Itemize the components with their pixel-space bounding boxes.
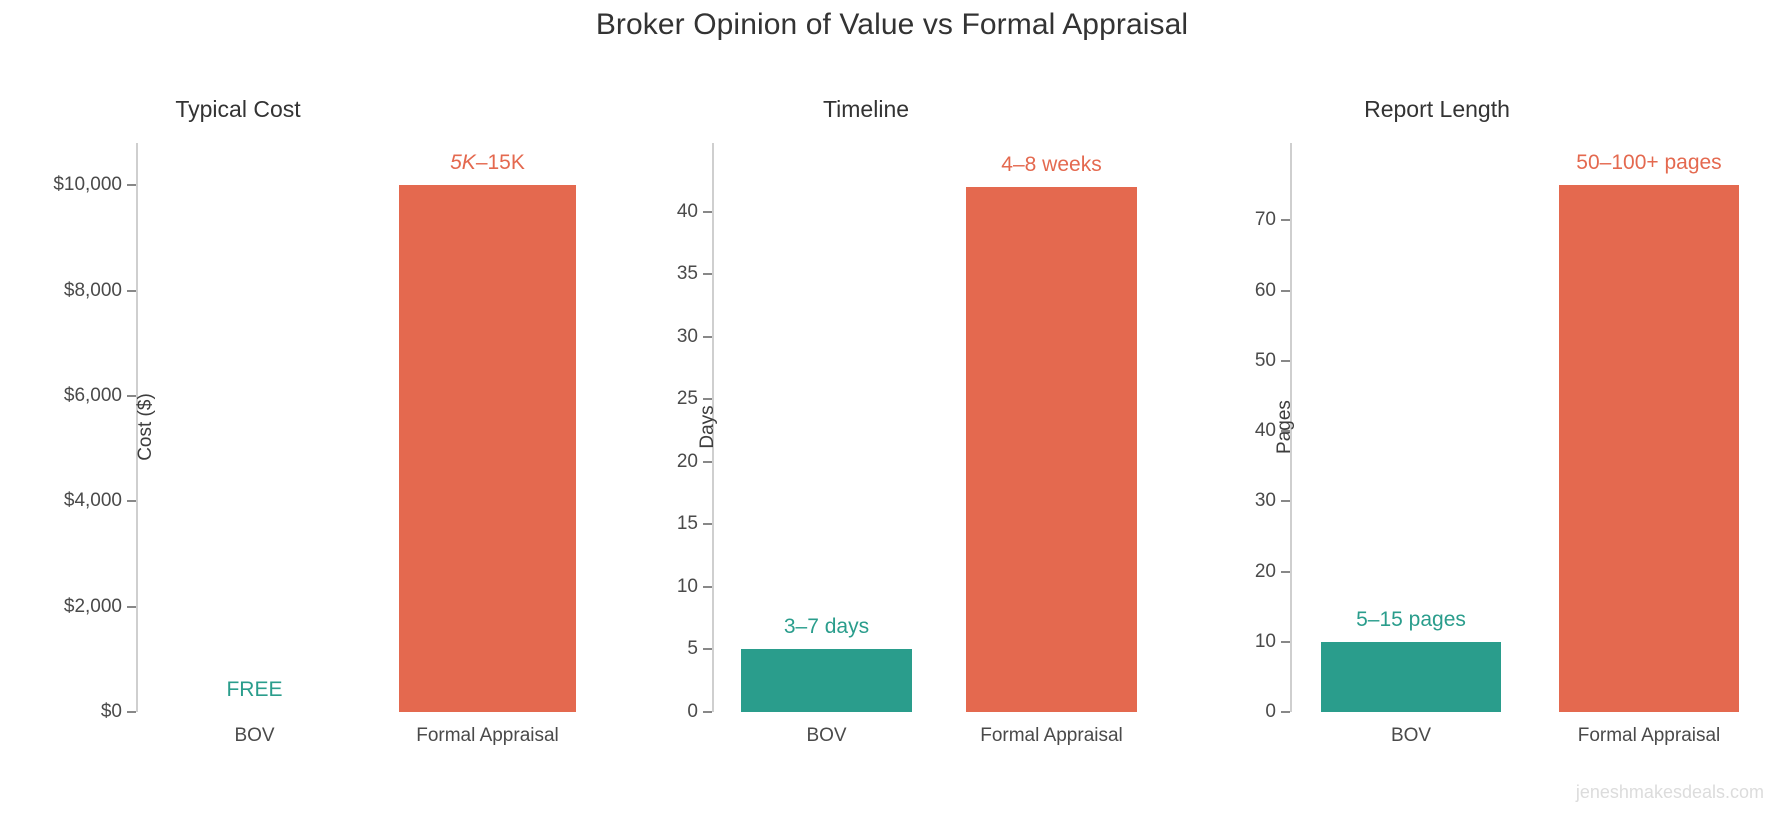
bar-slot: FREEBOV: [138, 143, 371, 712]
y-axis-tick-label: $10,000: [53, 174, 138, 196]
panel-title: Typical Cost: [0, 96, 620, 123]
y-axis-tick-label: 10: [677, 576, 714, 598]
bar-slot: 5–15 pagesBOV: [1292, 143, 1530, 712]
y-axis-tick-label: 15: [677, 513, 714, 535]
watermark: jeneshmakesdeals.com: [1576, 782, 1764, 803]
y-axis-tick-label: $4,000: [64, 490, 138, 512]
bar-value-label: 3–7 days: [714, 615, 939, 639]
y-axis-tick-label: 70: [1255, 209, 1292, 231]
x-axis-tick-label: Formal Appraisal: [1530, 725, 1768, 747]
bar-slot: 50–100+ pagesFormal Appraisal: [1530, 143, 1768, 712]
y-axis-tick-label: 5: [687, 638, 714, 660]
y-axis-tick-label: 40: [677, 201, 714, 223]
x-axis-tick-label: BOV: [714, 725, 939, 747]
y-axis-tick-label: 20: [677, 451, 714, 473]
bar-value-label: FREE: [138, 678, 371, 702]
y-axis-tick-label: 60: [1255, 280, 1292, 302]
panel-report-length: Report Length Pages 010203040506070 5–15…: [1180, 96, 1784, 776]
bar-value-label: 50–100+ pages: [1530, 151, 1768, 175]
y-axis-tick-label: $0: [101, 701, 138, 723]
x-axis-tick-label: BOV: [138, 725, 371, 747]
y-axis-tick-label: 20: [1255, 561, 1292, 583]
x-axis-tick-label: BOV: [1292, 725, 1530, 747]
y-axis-tick-label: $6,000: [64, 385, 138, 407]
bar-value-label: 4–8 weeks: [939, 153, 1164, 177]
bar-value-label: 5K–15K: [371, 151, 604, 175]
bar-bov[interactable]: [741, 649, 912, 712]
y-axis-tick-label: 30: [677, 326, 714, 348]
bar-group: 5–15 pagesBOV50–100+ pagesFormal Apprais…: [1292, 143, 1768, 712]
bar-slot: 4–8 weeksFormal Appraisal: [939, 143, 1164, 712]
plot-area: Days 0510152025303540 3–7 daysBOV4–8 wee…: [712, 143, 1164, 712]
x-axis-tick-label: Formal Appraisal: [371, 725, 604, 747]
bar-value-label: 5–15 pages: [1292, 608, 1530, 632]
y-axis-tick-label: 0: [1265, 701, 1292, 723]
y-axis-tick-label: 10: [1255, 631, 1292, 653]
y-axis-tick-label: 0: [687, 701, 714, 723]
bar-group: FREEBOV5K–15KFormal Appraisal: [138, 143, 604, 712]
y-axis-tick-label: 40: [1255, 420, 1292, 442]
chart-figure: Broker Opinion of Value vs Formal Apprai…: [0, 0, 1784, 813]
panel-title: Report Length: [1180, 96, 1784, 123]
figure-suptitle: Broker Opinion of Value vs Formal Apprai…: [0, 8, 1784, 42]
y-axis-tick-label: 50: [1255, 350, 1292, 372]
y-axis-tick-label: 35: [677, 263, 714, 285]
panel-title: Timeline: [620, 96, 1180, 123]
panel-typical-cost: Typical Cost Cost ($) $0$2,000$4,000$6,0…: [0, 96, 620, 776]
bar-formal-appraisal[interactable]: [966, 187, 1137, 712]
bar-formal-appraisal[interactable]: [1559, 185, 1740, 712]
bar-formal-appraisal[interactable]: [399, 185, 576, 712]
plot-area: Cost ($) $0$2,000$4,000$6,000$8,000$10,0…: [136, 143, 604, 712]
plot-area: Pages 010203040506070 5–15 pagesBOV50–10…: [1290, 143, 1768, 712]
x-axis-tick-label: Formal Appraisal: [939, 725, 1164, 747]
bar-slot: 3–7 daysBOV: [714, 143, 939, 712]
bar-group: 3–7 daysBOV4–8 weeksFormal Appraisal: [714, 143, 1164, 712]
y-axis-tick-label: 30: [1255, 490, 1292, 512]
y-axis-tick-label: 25: [677, 388, 714, 410]
y-axis-tick-label: $8,000: [64, 280, 138, 302]
y-axis-tick-label: $2,000: [64, 596, 138, 618]
bar-bov[interactable]: [1321, 642, 1502, 712]
bar-slot: 5K–15KFormal Appraisal: [371, 143, 604, 712]
panel-timeline: Timeline Days 0510152025303540 3–7 daysB…: [620, 96, 1180, 776]
